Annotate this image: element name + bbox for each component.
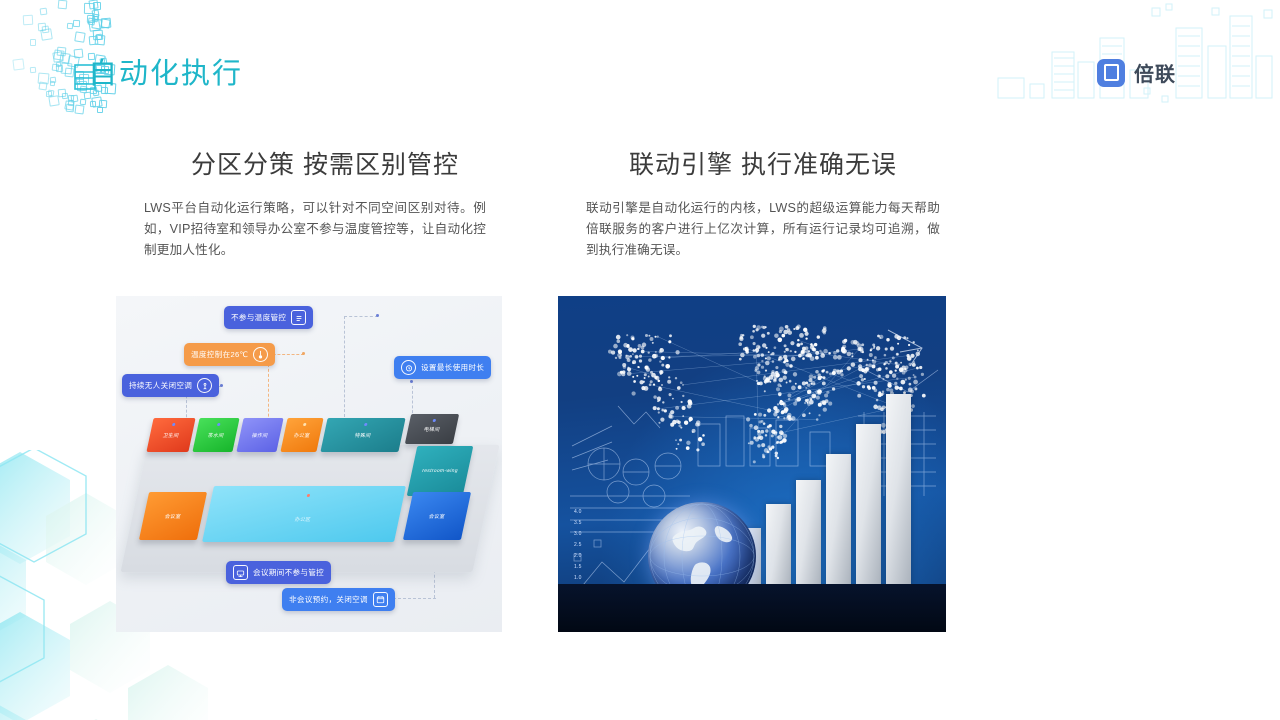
slide-header: 自动化执行 倍联 xyxy=(0,0,1280,118)
room-block: 卫生间 xyxy=(146,418,195,452)
column-left-heading: 分区分策 按需区别管控 xyxy=(142,150,508,180)
badge-no-booking-ac-off[interactable]: 非会议预约，关闭空调 xyxy=(282,588,395,611)
badge-no-temp-control[interactable]: 不参与温度管控 xyxy=(224,306,313,329)
badge-label: 不参与温度管控 xyxy=(231,312,286,323)
room-label: 办公室 xyxy=(293,432,310,439)
badge-label: 设置最长使用时长 xyxy=(421,362,484,373)
global-data-network-image: 4.03.53.02.52.01.51.0 xyxy=(558,296,946,632)
badge-label: 温度控制在26℃ xyxy=(191,349,248,360)
room-block: restroom-wing xyxy=(407,446,474,496)
room-label: 卫生间 xyxy=(162,432,179,439)
badge-max-usage-time[interactable]: 设置最长使用时长 xyxy=(394,356,491,379)
room-block: 会议室 xyxy=(139,492,207,540)
calendar-icon xyxy=(373,592,388,607)
room-label: 操作间 xyxy=(251,432,268,439)
room-label: 特殊间 xyxy=(354,432,371,439)
room-block: 办公区 xyxy=(202,486,406,542)
zoning-diagram-image: 卫生间 茶水间 操作间 办公室 特殊间 电梯间 restroom-wing xyxy=(116,296,502,632)
badge-label: 持续无人关闭空调 xyxy=(129,380,192,391)
room-block: 办公室 xyxy=(280,418,323,452)
projector-icon xyxy=(233,565,248,580)
list-card-icon xyxy=(291,310,306,325)
brand-mark-icon xyxy=(1097,59,1125,87)
column-right-heading: 联动引擎 执行准确无误 xyxy=(576,150,950,180)
column-left-body: LWS平台自动化运行策略，可以针对不同空间区别对待。例如，VIP招待室和领导办公… xyxy=(116,198,508,261)
room-label: 茶水间 xyxy=(207,432,224,439)
room-label: 会议室 xyxy=(164,513,181,520)
column-left: 分区分策 按需区别管控 LWS平台自动化运行策略，可以针对不同空间区别对待。例如… xyxy=(116,150,508,261)
chart-axis-ticks: 4.03.53.02.52.01.51.0 xyxy=(574,507,582,584)
room-block: 特殊间 xyxy=(320,418,405,452)
image-base-shadow xyxy=(558,584,946,632)
bar-chart-graphic xyxy=(736,360,936,590)
brand-name: 倍联 xyxy=(1134,58,1176,87)
badge-unattended-ac-off[interactable]: 持续无人关闭空调 xyxy=(122,374,219,397)
room-label: restroom-wing xyxy=(422,468,459,474)
timer-icon xyxy=(401,360,416,375)
brand-logo: 倍联 xyxy=(1097,58,1176,87)
room-label: 电梯间 xyxy=(423,426,440,433)
room-block: 会议室 xyxy=(403,492,471,540)
thermometer-icon xyxy=(253,347,268,362)
badge-meeting-exempt[interactable]: 会议期间不参与管控 xyxy=(226,561,331,584)
room-label: 会议室 xyxy=(428,513,445,520)
column-right: 联动引擎 执行准确无误 联动引擎是自动化运行的内核，LWS的超级运算能力每天帮助… xyxy=(558,150,950,261)
page-title: 自动化执行 xyxy=(88,50,243,92)
room-block: 操作间 xyxy=(236,418,283,452)
badge-label: 会议期间不参与管控 xyxy=(253,567,324,578)
motion-sensor-icon xyxy=(197,378,212,393)
room-block: 茶水间 xyxy=(192,418,239,452)
badge-temp-26[interactable]: 温度控制在26℃ xyxy=(184,343,275,366)
room-label: 办公区 xyxy=(294,516,311,523)
room-block: 电梯间 xyxy=(405,414,459,444)
slide-root: 自动化执行 倍联 分区分策 按需区别管控 LWS平台自动化运行策略，可以针对不同… xyxy=(0,0,1280,720)
column-right-body: 联动引擎是自动化运行的内核，LWS的超级运算能力每天帮助倍联服务的客户进行上亿次… xyxy=(558,198,950,261)
badge-label: 非会议预约，关闭空调 xyxy=(289,594,368,605)
